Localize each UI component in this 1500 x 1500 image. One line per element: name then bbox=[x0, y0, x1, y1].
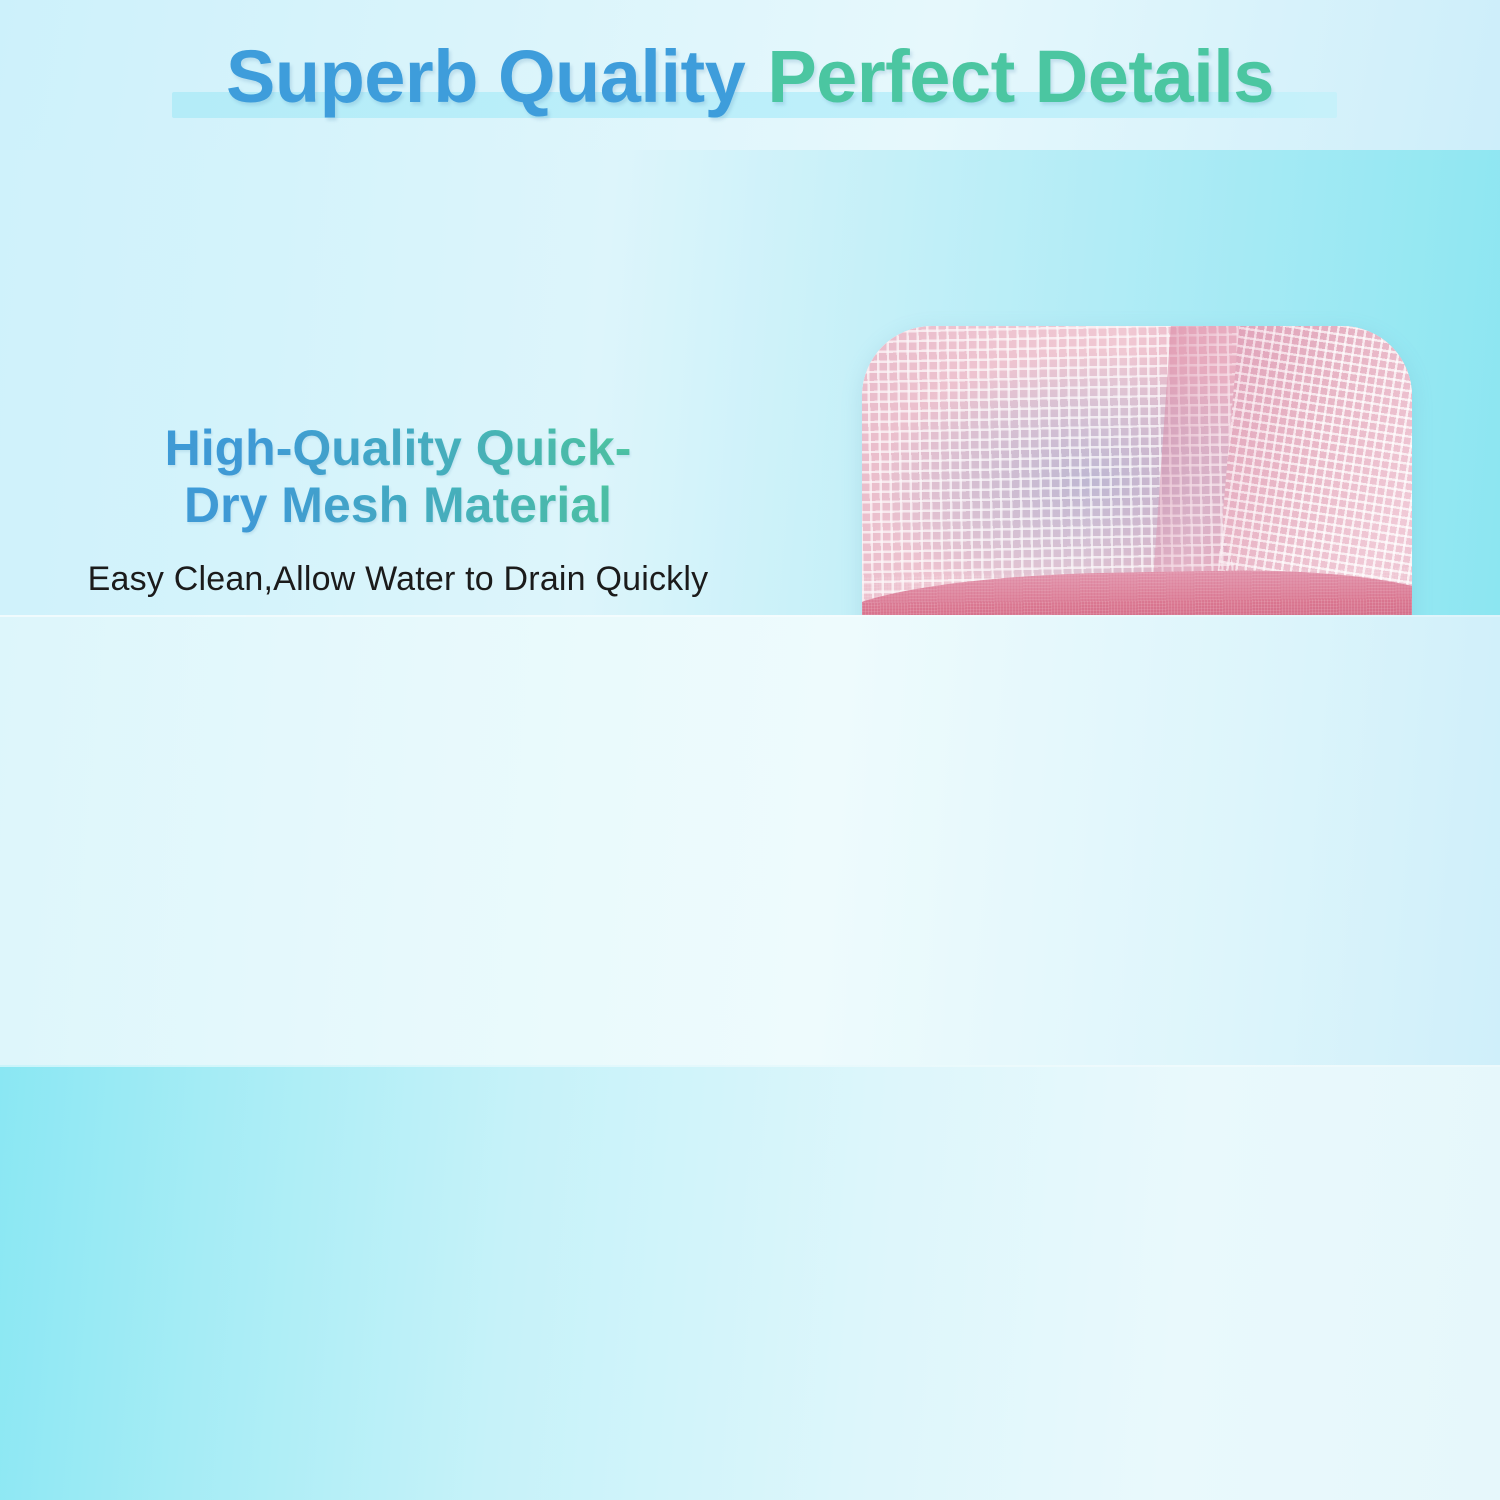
feature-section-reinforced-handle: Reinforced Strong Handle Bear Weight Wit… bbox=[0, 615, 1500, 1065]
product-feature-infographic: Superb QualityPerfect Details High bbox=[0, 0, 1500, 1500]
feature-image-mesh-material bbox=[862, 326, 1412, 615]
mesh-photo-content bbox=[862, 326, 1412, 615]
title-blue-part: Superb Quality bbox=[226, 35, 745, 118]
page-title: Superb QualityPerfect Details bbox=[0, 34, 1500, 119]
section-divider-top bbox=[0, 615, 1500, 617]
section-divider-top bbox=[0, 1065, 1500, 1067]
feature-text-quick-dry-mesh: High-Quality Quick- Dry Mesh Material Ea… bbox=[48, 420, 748, 599]
title-green-part: Perfect Details bbox=[767, 35, 1274, 118]
feature-subtitle: Easy Clean,Allow Water to Drain Quickly bbox=[48, 560, 748, 599]
feature-section-sewing-workmanship: 材质 聚酯纤维 手洗 冷水 勿漂白 Material 100% Polyeste… bbox=[0, 1065, 1500, 1500]
feature-section-quick-dry-mesh: High-Quality Quick- Dry Mesh Material Ea… bbox=[0, 150, 1500, 615]
header-banner: Superb QualityPerfect Details bbox=[0, 0, 1500, 150]
feature-title: High-Quality Quick- Dry Mesh Material bbox=[48, 420, 748, 534]
